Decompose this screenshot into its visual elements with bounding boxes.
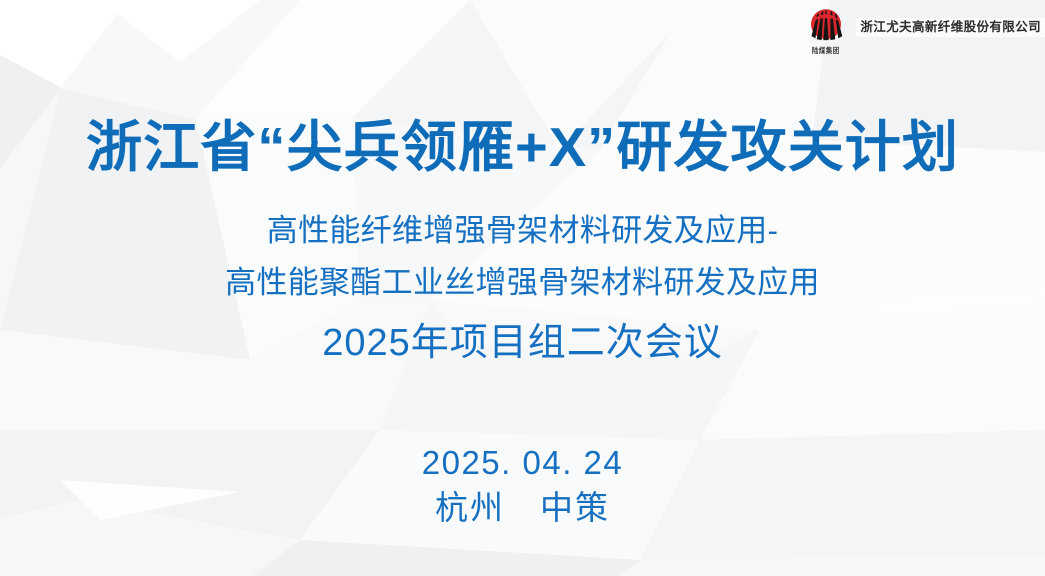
main-title: 浙江省“尖兵领雁+X”研发攻关计划 xyxy=(0,118,1045,177)
company-name: 浙江尤夫高新纤维股份有限公司 xyxy=(860,20,1041,35)
subtitle-line-2: 高性能聚酯工业丝增强骨架材料研发及应用 xyxy=(0,264,1045,303)
slide-content: 浙江省“尖兵领雁+X”研发攻关计划 高性能纤维增强骨架材料研发及应用- 高性能聚… xyxy=(0,0,1045,576)
meeting-place: 杭州 中策 xyxy=(0,488,1045,528)
company-logo-block: 陆煤集团 浙江尤夫高新纤维股份有限公司 xyxy=(795,0,1045,72)
title-slide: 陆煤集团 浙江尤夫高新纤维股份有限公司 浙江省“尖兵领雁+X”研发攻关计划 高性… xyxy=(0,0,1045,576)
company-name-box: 浙江尤夫高新纤维股份有限公司 xyxy=(856,18,1045,37)
luan-group-logo-icon xyxy=(804,4,848,48)
meeting-date: 2025. 04. 24 xyxy=(0,443,1045,483)
subtitle-line-1: 高性能纤维增强骨架材料研发及应用- xyxy=(0,212,1045,251)
logo-caption: 陆煤集团 xyxy=(812,49,840,56)
logo-mark-wrap: 陆煤集团 xyxy=(803,4,848,74)
meeting-name: 2025年项目组二次会议 xyxy=(0,320,1045,368)
